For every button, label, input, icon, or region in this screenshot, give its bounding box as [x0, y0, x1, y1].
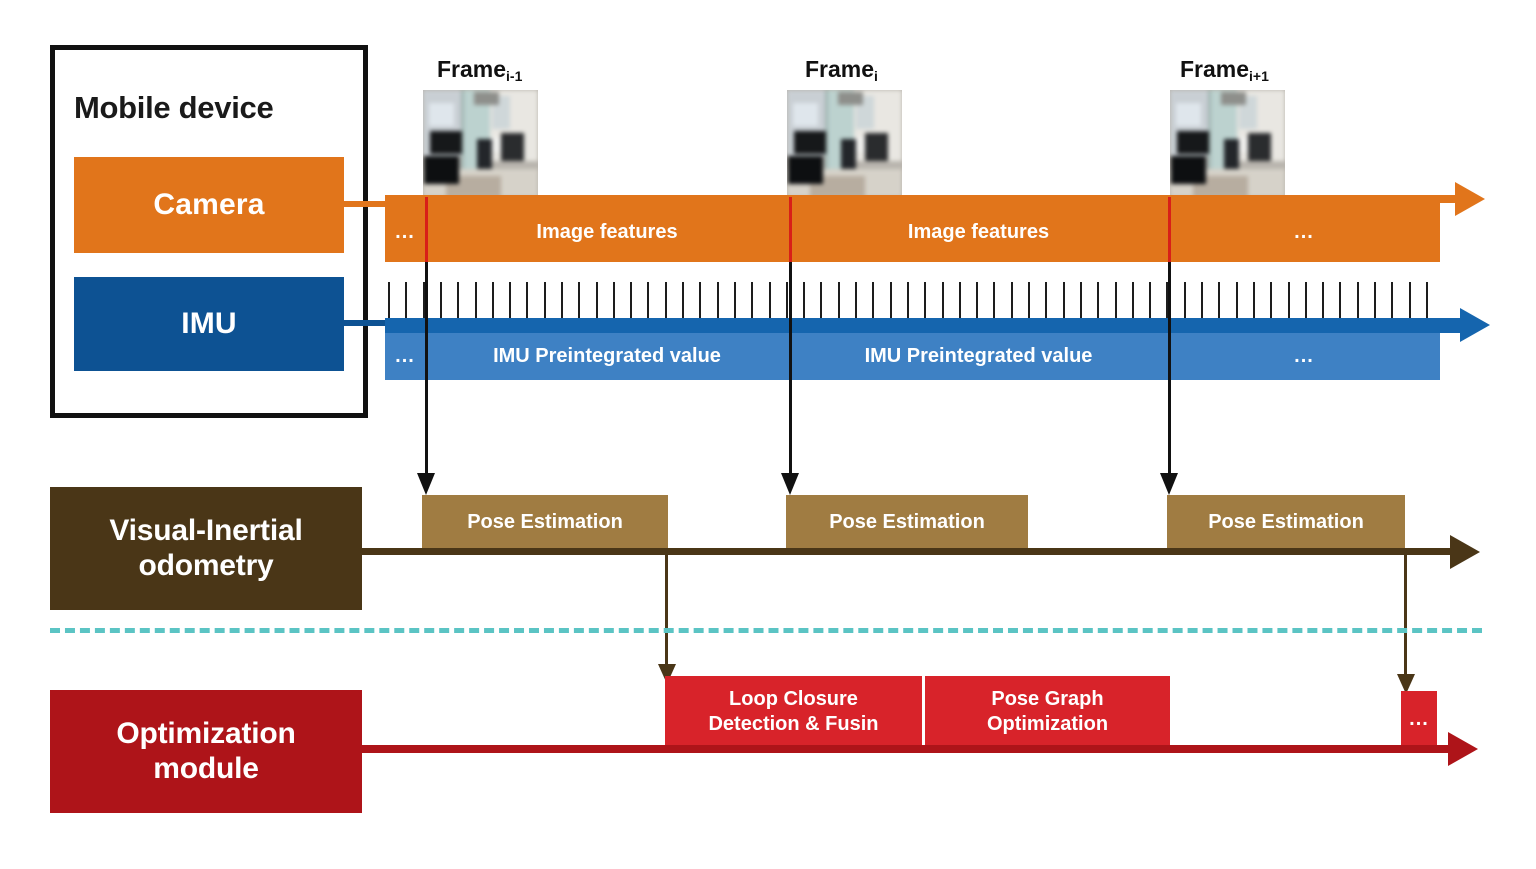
frame-thumbnail-1-scene — [787, 90, 902, 197]
task-pose-graph-optimization: Pose Graph Optimization — [925, 676, 1170, 747]
frame-dropline-2-arrowhead — [1160, 473, 1178, 495]
frame-marker-red-2 — [1168, 197, 1171, 263]
frame-label-2-sub: i+1 — [1249, 68, 1269, 84]
camera-timeline-arrowhead — [1455, 182, 1485, 216]
camera-timeline-shaft — [385, 195, 1460, 203]
task-pose-graph-line2: Optimization — [987, 712, 1108, 737]
frame-label-0-base: Frame — [437, 56, 506, 82]
module-box-optimization: Optimization module — [50, 690, 362, 813]
module-box-visual-inertial-odometry: Visual-Inertial odometry — [50, 487, 362, 610]
imu-segment-1-label: IMU Preintegrated value — [493, 345, 721, 368]
task-pose-estimation-1-label: Pose Estimation — [829, 511, 985, 534]
frame-dropline-1 — [789, 262, 792, 475]
frame-label-1-sub: i — [874, 68, 878, 84]
camera-segment-2-label: Image features — [908, 221, 1049, 244]
camera-segment-3-label: ... — [1294, 221, 1314, 244]
frame-label-2-base: Frame — [1180, 56, 1249, 82]
module-vio-label-line2: odometry — [138, 549, 273, 584]
frame-thumbnail-0 — [423, 90, 538, 197]
frame-thumbnail-2-scene — [1170, 90, 1285, 197]
task-loop-closure-detection: Loop Closure Detection & Fusin — [665, 676, 922, 747]
frame-label-2: Framei+1 — [1180, 56, 1269, 83]
camera-segment-0-label: ... — [395, 221, 415, 244]
frame-dropline-0 — [425, 262, 428, 475]
module-vio-label-line1: Visual-Inertial — [109, 514, 302, 549]
frame-label-1-base: Frame — [805, 56, 874, 82]
sensor-label-camera: Camera — [153, 188, 264, 222]
task-loop-closure-line1: Loop Closure — [729, 687, 858, 712]
task-loop-closure-line2: Detection & Fusin — [708, 712, 878, 737]
camera-segment-0: ... — [385, 203, 425, 262]
layer-separator-dashed-line — [50, 628, 1482, 633]
task-pose-estimation-0: Pose Estimation — [422, 495, 668, 550]
frame-dropline-2 — [1168, 262, 1171, 475]
camera-segment-3: ... — [1168, 203, 1440, 262]
imu-segment-2: IMU Preintegrated value — [789, 333, 1168, 380]
camera-segment-1: Image features — [425, 203, 789, 262]
mobile-device-title: Mobile device — [74, 90, 273, 126]
task-pose-estimation-0-label: Pose Estimation — [467, 511, 623, 534]
vio-to-opt-stem-1 — [1404, 553, 1407, 676]
imu-timeline-arrowhead — [1460, 308, 1490, 342]
frame-thumbnail-0-scene — [423, 90, 538, 197]
vio-timeline-arrowhead — [1450, 535, 1480, 569]
optimization-timeline-arrowhead — [1448, 732, 1478, 766]
frame-marker-red-0 — [425, 197, 428, 263]
frame-label-1: Framei — [805, 56, 878, 83]
frame-label-0-sub: i-1 — [506, 68, 522, 84]
sensor-label-imu: IMU — [181, 307, 237, 341]
task-optimization-ellipsis: ... — [1401, 691, 1437, 747]
camera-lead-line — [344, 201, 389, 207]
task-pose-estimation-1: Pose Estimation — [786, 495, 1028, 550]
task-pose-estimation-2-label: Pose Estimation — [1208, 511, 1364, 534]
frame-label-0: Framei-1 — [437, 56, 522, 83]
frame-marker-red-1 — [789, 197, 792, 263]
imu-segment-0: ... — [385, 333, 425, 380]
task-pose-graph-line1: Pose Graph — [991, 687, 1103, 712]
imu-segment-3: ... — [1168, 333, 1440, 380]
module-opt-label-line2: module — [153, 752, 258, 787]
sensor-box-camera: Camera — [74, 157, 344, 253]
optimization-timeline-shaft — [362, 745, 1452, 753]
frame-thumbnail-2 — [1170, 90, 1285, 197]
module-opt-label-line1: Optimization — [116, 717, 295, 752]
task-pose-estimation-2: Pose Estimation — [1167, 495, 1405, 550]
sensor-box-imu: IMU — [74, 277, 344, 371]
imu-segment-2-label: IMU Preintegrated value — [865, 345, 1093, 368]
diagram-canvas: Mobile device Camera IMU Framei-1 Framei… — [0, 0, 1536, 869]
camera-segment-1-label: Image features — [536, 221, 677, 244]
task-optimization-ellipsis-label: ... — [1409, 707, 1429, 732]
imu-timeline-shaft — [385, 318, 1465, 333]
imu-segment-1: IMU Preintegrated value — [425, 333, 789, 380]
imu-segment-0-label: ... — [395, 345, 415, 368]
imu-segment-3-label: ... — [1294, 345, 1314, 368]
frame-dropline-1-arrowhead — [781, 473, 799, 495]
frame-thumbnail-1 — [787, 90, 902, 197]
imu-lead-line — [344, 320, 389, 326]
vio-timeline-shaft — [362, 548, 1454, 555]
camera-segment-2: Image features — [789, 203, 1168, 262]
vio-to-opt-stem-0 — [665, 553, 668, 666]
frame-dropline-0-arrowhead — [417, 473, 435, 495]
